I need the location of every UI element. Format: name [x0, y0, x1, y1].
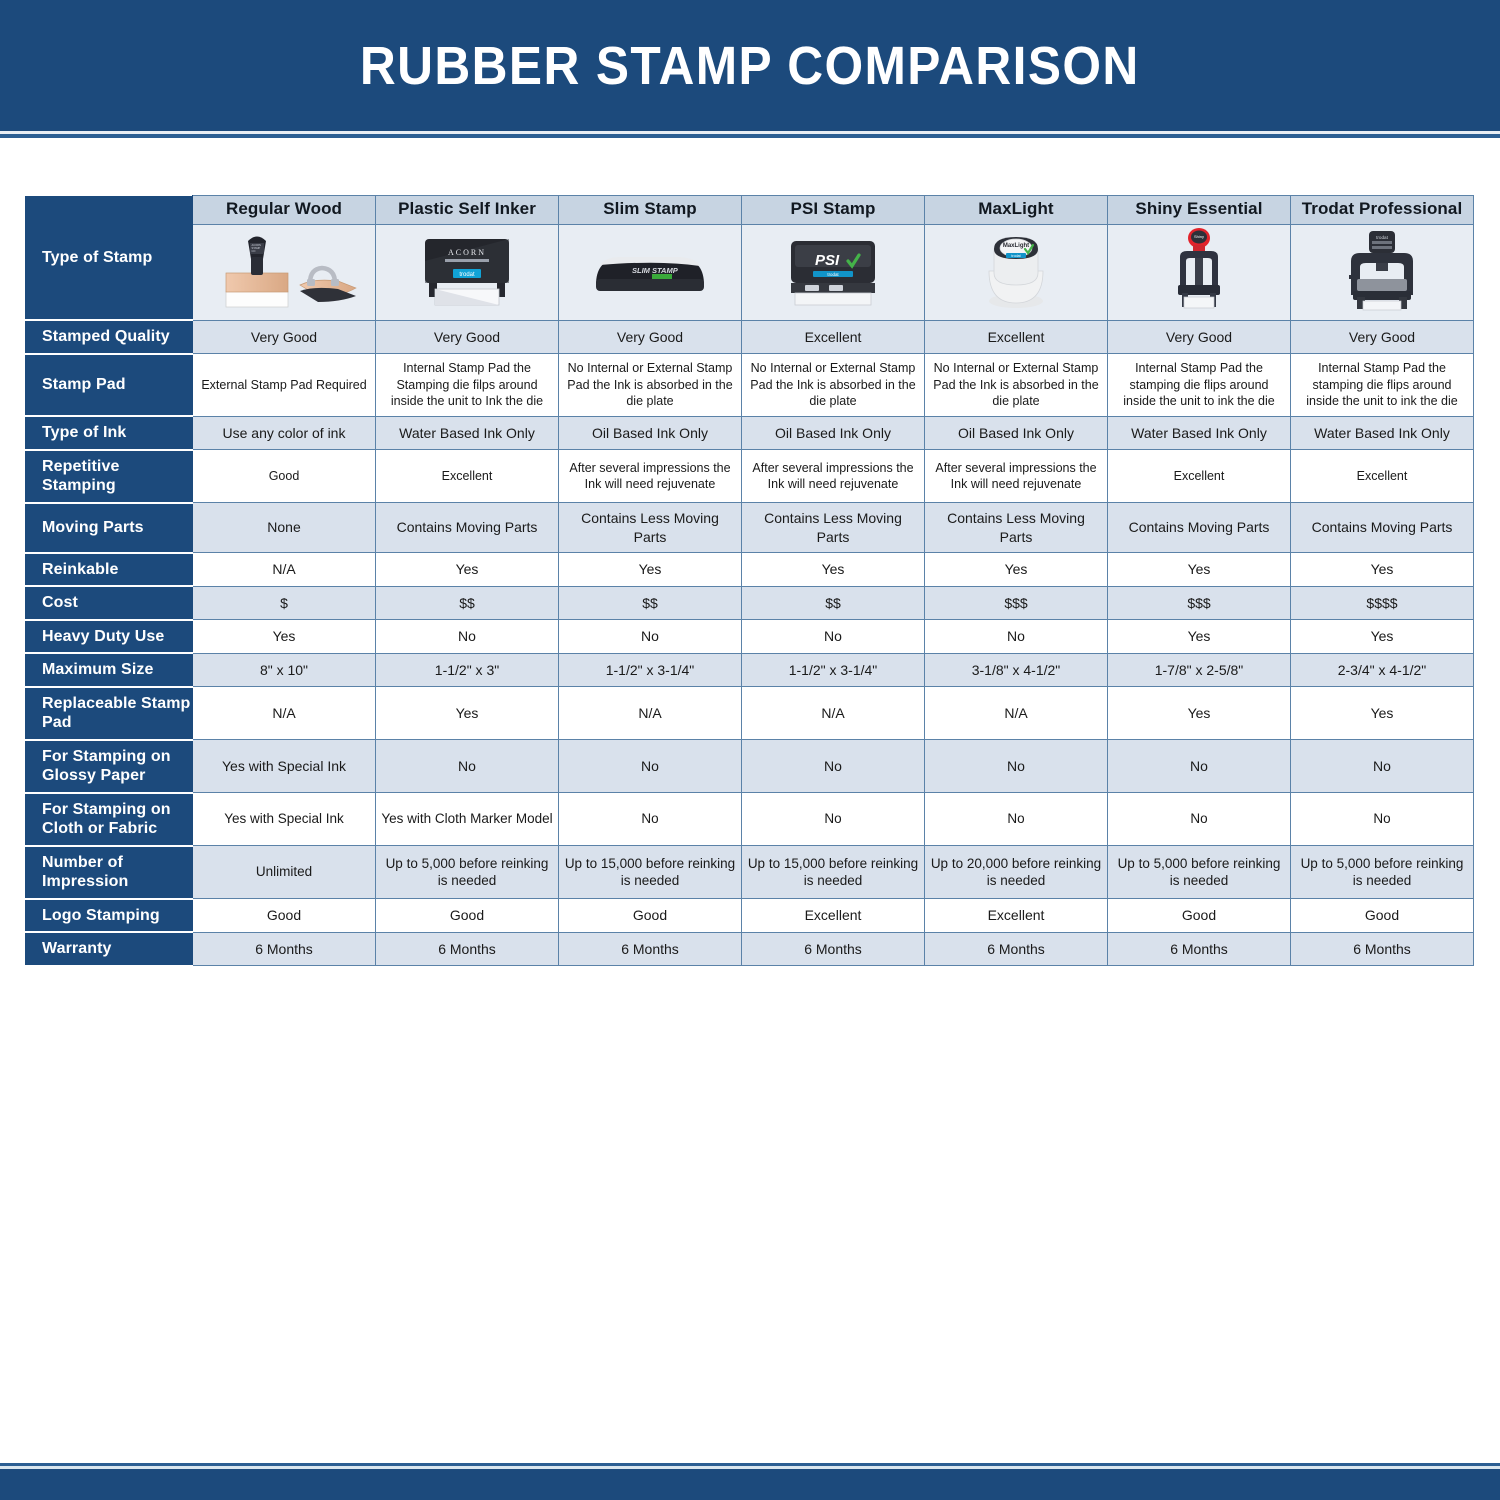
page-title: RUBBER STAMP COMPARISON	[360, 35, 1140, 97]
row-label-3: Type of Ink	[26, 416, 193, 450]
maxlight-round-stamp-icon: MaxLight trodat	[927, 227, 1105, 318]
cell-r15-c2: 6 Months	[376, 932, 559, 966]
cell-r10-c6: Yes	[1108, 687, 1291, 740]
cell-r4-c7: Excellent	[1291, 450, 1474, 503]
cell-r8-c5: No	[925, 620, 1108, 654]
cell-r11-c4: No	[742, 740, 925, 793]
row-label-8: Heavy Duty Use	[26, 620, 193, 654]
cell-r14-c6: Good	[1108, 899, 1291, 933]
row-label-15: Warranty	[26, 932, 193, 966]
cell-r9-c3: 1-1/2" x 3-1/4"	[559, 653, 742, 687]
shiny-essential-stamp-icon: Shiny	[1110, 227, 1288, 318]
table-row: Replaceable Stamp PadN/AYesN/AN/AN/AYesY…	[26, 687, 1474, 740]
cell-r8-c2: No	[376, 620, 559, 654]
stamp-image-cell-7: trodat	[1291, 224, 1474, 320]
cell-r2-c3: No Internal or External Stamp Pad the In…	[559, 354, 742, 417]
row-label-13: Number of Impression	[26, 846, 193, 899]
cell-r10-c4: N/A	[742, 687, 925, 740]
cell-r14-c7: Good	[1291, 899, 1474, 933]
cell-r4-c5: After several impressions the Ink will n…	[925, 450, 1108, 503]
cell-r13-c6: Up to 5,000 before reinking is needed	[1108, 846, 1291, 899]
table-row: ReinkableN/AYesYesYesYesYesYes	[26, 553, 1474, 587]
table-row: ACORNSTAMP CO ACORN trodat	[26, 224, 1474, 320]
cell-r3-c1: Use any color of ink	[193, 416, 376, 450]
stamp-image-cell-3: SLIM STAMP	[559, 224, 742, 320]
cell-r10-c3: N/A	[559, 687, 742, 740]
table-row: Type of InkUse any color of inkWater Bas…	[26, 416, 1474, 450]
cell-r5-c7: Contains Moving Parts	[1291, 503, 1474, 553]
cell-r10-c7: Yes	[1291, 687, 1474, 740]
cell-r8-c4: No	[742, 620, 925, 654]
stamp-image-cell-4: PSI trodat	[742, 224, 925, 320]
cell-r9-c6: 1-7/8" x 2-5/8"	[1108, 653, 1291, 687]
cell-r1-c2: Very Good	[376, 320, 559, 354]
cell-r2-c5: No Internal or External Stamp Pad the In…	[925, 354, 1108, 417]
cell-r15-c1: 6 Months	[193, 932, 376, 966]
product-header-3: Slim Stamp	[559, 196, 742, 225]
cell-r13-c7: Up to 5,000 before reinking is needed	[1291, 846, 1474, 899]
cell-r2-c4: No Internal or External Stamp Pad the In…	[742, 354, 925, 417]
cell-r14-c4: Excellent	[742, 899, 925, 933]
cell-r14-c3: Good	[559, 899, 742, 933]
cell-r9-c2: 1-1/2" x 3"	[376, 653, 559, 687]
cell-r3-c2: Water Based Ink Only	[376, 416, 559, 450]
row-label-7: Cost	[26, 586, 193, 620]
cell-r1-c5: Excellent	[925, 320, 1108, 354]
table-row: For Stamping on Cloth or FabricYes with …	[26, 793, 1474, 846]
psi-stamp-icon: PSI trodat	[744, 227, 922, 318]
svg-text:trodat: trodat	[1011, 254, 1020, 258]
svg-text:CO: CO	[252, 249, 256, 253]
table-row: Warranty6 Months6 Months6 Months6 Months…	[26, 932, 1474, 966]
product-header-2: Plastic Self Inker	[376, 196, 559, 225]
table-row: Heavy Duty UseYesNoNoNoNoYesYes	[26, 620, 1474, 654]
cell-r3-c6: Water Based Ink Only	[1108, 416, 1291, 450]
cell-r11-c5: No	[925, 740, 1108, 793]
cell-r12-c4: No	[742, 793, 925, 846]
row-label-5: Moving Parts	[26, 503, 193, 553]
cell-r12-c3: No	[559, 793, 742, 846]
cell-r10-c5: N/A	[925, 687, 1108, 740]
cell-r5-c1: None	[193, 503, 376, 553]
cell-r11-c7: No	[1291, 740, 1474, 793]
comparison-table-body: Type of StampRegular WoodPlastic Self In…	[26, 196, 1474, 966]
row-label-4: Repetitive Stamping	[26, 450, 193, 503]
cell-r6-c3: Yes	[559, 553, 742, 587]
cell-r14-c5: Excellent	[925, 899, 1108, 933]
cell-r1-c4: Excellent	[742, 320, 925, 354]
cell-r8-c1: Yes	[193, 620, 376, 654]
cell-r1-c1: Very Good	[193, 320, 376, 354]
cell-r6-c1: N/A	[193, 553, 376, 587]
plastic-self-inker-stamp-icon: ACORN trodat	[378, 227, 556, 318]
cell-r4-c6: Excellent	[1108, 450, 1291, 503]
product-header-4: PSI Stamp	[742, 196, 925, 225]
cell-r5-c6: Contains Moving Parts	[1108, 503, 1291, 553]
cell-r3-c3: Oil Based Ink Only	[559, 416, 742, 450]
cell-r4-c2: Excellent	[376, 450, 559, 503]
svg-text:trodat: trodat	[827, 272, 839, 277]
product-header-row: Type of StampRegular WoodPlastic Self In…	[26, 196, 1474, 225]
cell-r6-c5: Yes	[925, 553, 1108, 587]
cell-r11-c1: Yes with Special Ink	[193, 740, 376, 793]
cell-r15-c3: 6 Months	[559, 932, 742, 966]
stamp-image-cell-6: Shiny	[1108, 224, 1291, 320]
cell-r13-c1: Unlimited	[193, 846, 376, 899]
table-row: Logo StampingGoodGoodGoodExcellentExcell…	[26, 899, 1474, 933]
svg-text:trodat: trodat	[459, 272, 475, 278]
cell-r7-c4: $$	[742, 586, 925, 620]
cell-r12-c5: No	[925, 793, 1108, 846]
svg-text:ACORN: ACORN	[448, 248, 486, 257]
cell-r4-c4: After several impressions the Ink will n…	[742, 450, 925, 503]
slim-stamp-icon: SLIM STAMP	[561, 235, 739, 310]
table-row: Stamped QualityVery GoodVery GoodVery Go…	[26, 320, 1474, 354]
row-label-9: Maximum Size	[26, 653, 193, 687]
product-header-7: Trodat Professional	[1291, 196, 1474, 225]
cell-r4-c3: After several impressions the Ink will n…	[559, 450, 742, 503]
cell-r15-c6: 6 Months	[1108, 932, 1291, 966]
cell-r2-c7: Internal Stamp Pad the stamping die flip…	[1291, 354, 1474, 417]
product-header-6: Shiny Essential	[1108, 196, 1291, 225]
product-header-1: Regular Wood	[193, 196, 376, 225]
svg-text:trodat: trodat	[1376, 235, 1388, 240]
comparison-table-wrapper: Type of StampRegular WoodPlastic Self In…	[25, 195, 1472, 967]
cell-r7-c6: $$$	[1108, 586, 1291, 620]
cell-r7-c5: $$$	[925, 586, 1108, 620]
table-row: For Stamping on Glossy PaperYes with Spe…	[26, 740, 1474, 793]
trodat-professional-stamp-icon: trodat	[1293, 227, 1471, 318]
stamp-image-cell-1: ACORNSTAMP CO	[193, 224, 376, 320]
cell-r7-c3: $$	[559, 586, 742, 620]
cell-r4-c1: Good	[193, 450, 376, 503]
cell-r7-c2: $$	[376, 586, 559, 620]
cell-r5-c4: Contains Less Moving Parts	[742, 503, 925, 553]
svg-text:Shiny: Shiny	[1194, 234, 1204, 239]
cell-r7-c1: $	[193, 586, 376, 620]
cell-r11-c6: No	[1108, 740, 1291, 793]
page-footer-band	[0, 1469, 1500, 1500]
row-label-6: Reinkable	[26, 553, 193, 587]
cell-r6-c2: Yes	[376, 553, 559, 587]
table-row: Moving PartsNoneContains Moving PartsCon…	[26, 503, 1474, 553]
cell-r12-c6: No	[1108, 793, 1291, 846]
product-header-5: MaxLight	[925, 196, 1108, 225]
cell-r5-c2: Contains Moving Parts	[376, 503, 559, 553]
cell-r5-c5: Contains Less Moving Parts	[925, 503, 1108, 553]
cell-r9-c7: 2-3/4" x 4-1/2"	[1291, 653, 1474, 687]
cell-r10-c2: Yes	[376, 687, 559, 740]
cell-r9-c4: 1-1/2" x 3-1/4"	[742, 653, 925, 687]
cell-r2-c2: Internal Stamp Pad the Stamping die filp…	[376, 354, 559, 417]
comparison-table: Type of StampRegular WoodPlastic Self In…	[25, 195, 1474, 967]
cell-r11-c3: No	[559, 740, 742, 793]
svg-text:SLIM STAMP: SLIM STAMP	[632, 266, 679, 275]
cell-r3-c7: Water Based Ink Only	[1291, 416, 1474, 450]
cell-r6-c7: Yes	[1291, 553, 1474, 587]
cell-r12-c1: Yes with Special Ink	[193, 793, 376, 846]
header-divider-white	[0, 138, 1500, 140]
cell-r13-c2: Up to 5,000 before reinking is needed	[376, 846, 559, 899]
cell-r2-c1: External Stamp Pad Required	[193, 354, 376, 417]
row-label-2: Stamp Pad	[26, 354, 193, 417]
cell-r8-c3: No	[559, 620, 742, 654]
cell-r15-c5: 6 Months	[925, 932, 1108, 966]
cell-r11-c2: No	[376, 740, 559, 793]
cell-r1-c3: Very Good	[559, 320, 742, 354]
cell-r14-c1: Good	[193, 899, 376, 933]
cell-r2-c6: Internal Stamp Pad the stamping die flip…	[1108, 354, 1291, 417]
cell-r12-c2: Yes with Cloth Marker Model	[376, 793, 559, 846]
cell-r6-c6: Yes	[1108, 553, 1291, 587]
table-row: Stamp PadExternal Stamp Pad RequiredInte…	[26, 354, 1474, 417]
table-row: Cost$$$$$$$$$$$$$$$$$	[26, 586, 1474, 620]
cell-r3-c5: Oil Based Ink Only	[925, 416, 1108, 450]
row-label-12: For Stamping on Cloth or Fabric	[26, 793, 193, 846]
cell-r1-c7: Very Good	[1291, 320, 1474, 354]
cell-r14-c2: Good	[376, 899, 559, 933]
cell-r13-c4: Up to 15,000 before reinking is needed	[742, 846, 925, 899]
stamp-image-cell-2: ACORN trodat	[376, 224, 559, 320]
row-label-1: Stamped Quality	[26, 320, 193, 354]
cell-r7-c7: $$$$	[1291, 586, 1474, 620]
cell-r15-c7: 6 Months	[1291, 932, 1474, 966]
cell-r8-c6: Yes	[1108, 620, 1291, 654]
table-row: Repetitive StampingGoodExcellentAfter se…	[26, 450, 1474, 503]
cell-r3-c4: Oil Based Ink Only	[742, 416, 925, 450]
row-label-0: Type of Stamp	[26, 196, 193, 321]
cell-r13-c5: Up to 20,000 before reinking is needed	[925, 846, 1108, 899]
cell-r9-c1: 8" x 10"	[193, 653, 376, 687]
wood-handle-stamp-icon: ACORNSTAMP CO	[195, 227, 373, 318]
row-label-11: For Stamping on Glossy Paper	[26, 740, 193, 793]
comparison-page: RUBBER STAMP COMPARISON Type of StampReg…	[0, 0, 1500, 1500]
cell-r9-c5: 3-1/8" x 4-1/2"	[925, 653, 1108, 687]
svg-text:PSI: PSI	[815, 252, 840, 269]
row-label-14: Logo Stamping	[26, 899, 193, 933]
stamp-image-cell-5: MaxLight trodat	[925, 224, 1108, 320]
table-row: Maximum Size8" x 10"1-1/2" x 3"1-1/2" x …	[26, 653, 1474, 687]
cell-r10-c1: N/A	[193, 687, 376, 740]
table-row: Number of ImpressionUnlimitedUp to 5,000…	[26, 846, 1474, 899]
page-header-band: RUBBER STAMP COMPARISON	[0, 0, 1500, 131]
row-label-10: Replaceable Stamp Pad	[26, 687, 193, 740]
cell-r13-c3: Up to 15,000 before reinking is needed	[559, 846, 742, 899]
cell-r5-c3: Contains Less Moving Parts	[559, 503, 742, 553]
cell-r6-c4: Yes	[742, 553, 925, 587]
cell-r1-c6: Very Good	[1108, 320, 1291, 354]
cell-r12-c7: No	[1291, 793, 1474, 846]
cell-r8-c7: Yes	[1291, 620, 1474, 654]
cell-r15-c4: 6 Months	[742, 932, 925, 966]
